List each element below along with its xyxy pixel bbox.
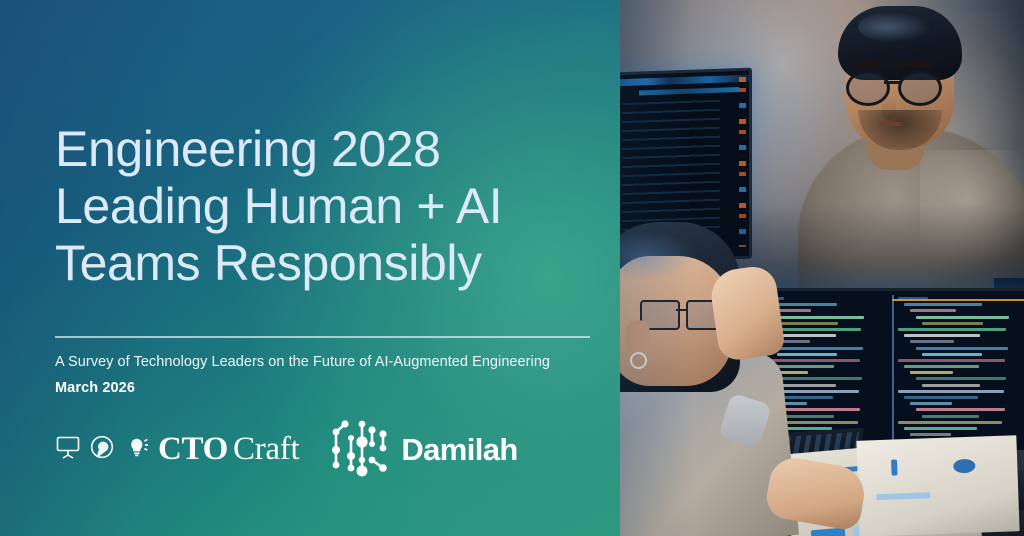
code-line: [898, 328, 1006, 331]
code-line: [922, 384, 981, 387]
code-line: [904, 365, 979, 368]
code-line: [777, 353, 837, 356]
code-highlight-line: [892, 299, 1024, 301]
cto-craft-icon-group: [55, 434, 149, 465]
code-line: [904, 334, 981, 337]
code-line: [777, 384, 836, 387]
code-line: [916, 347, 1008, 350]
code-line: [922, 415, 979, 418]
code-pane-divider: [892, 295, 894, 460]
page-title: Engineering 2028 Leading Human + AI Team…: [55, 121, 600, 292]
title-line-3: Teams Responsibly: [55, 235, 600, 292]
code-line: [898, 359, 1005, 362]
publication-date: March 2026: [55, 378, 550, 399]
subtitle-block: A Survey of Technology Leaders on the Fu…: [55, 352, 550, 399]
man-hair-highlight: [858, 12, 930, 42]
wireframe-paper-front: [856, 435, 1019, 536]
code-line: [904, 396, 978, 399]
presentation-screen-icon: [55, 434, 81, 465]
woman-earring: [630, 352, 647, 369]
head-profile-icon: [89, 434, 115, 465]
monitor-back-topbar: [620, 75, 749, 87]
damilah-wordmark: Damilah: [401, 434, 517, 465]
code-line: [910, 340, 955, 343]
code-line: [916, 316, 1009, 319]
cto-craft-light-text: Craft: [233, 431, 299, 467]
cover-photograph: [620, 0, 1024, 536]
cto-craft-bold-text: CTO: [158, 431, 228, 467]
code-line: [910, 371, 953, 374]
title-line-1: Engineering 2028: [55, 121, 600, 178]
woman-ear: [626, 320, 650, 354]
logo-row: CTOCraft: [55, 416, 518, 483]
man-lens-right: [898, 70, 942, 106]
title-divider: [55, 336, 590, 338]
monitor-back-topbar-secondary: [639, 87, 739, 96]
code-line: [922, 353, 982, 356]
wireframe-shape: [876, 492, 930, 500]
man-glasses: [844, 70, 956, 100]
cto-craft-logo[interactable]: CTOCraft: [55, 433, 299, 466]
code-line: [910, 309, 956, 312]
report-cover-banner: Engineering 2028 Leading Human + AI Team…: [0, 0, 1024, 536]
code-line: [771, 347, 863, 350]
damilah-logo[interactable]: Damilah: [331, 416, 517, 483]
code-line: [771, 377, 862, 380]
wireframe-shape: [953, 459, 975, 474]
code-line: [898, 421, 1003, 424]
man-glasses-bridge: [884, 81, 900, 84]
code-line: [910, 433, 951, 436]
subtitle-text: A Survey of Technology Leaders on the Fu…: [55, 352, 550, 373]
code-line: [771, 316, 864, 319]
wireframe-shape: [891, 459, 898, 475]
code-line: [904, 427, 977, 430]
lightbulb-icon: [123, 434, 149, 465]
network-nodes-icon: [331, 416, 389, 483]
cto-craft-wordmark: CTOCraft: [158, 433, 299, 466]
code-line: [904, 303, 982, 306]
code-line: [916, 408, 1005, 411]
title-line-2: Leading Human + AI: [55, 178, 600, 235]
man-mouth: [878, 122, 902, 126]
code-line: [898, 390, 1004, 393]
code-line: [922, 322, 983, 325]
code-line: [916, 377, 1007, 380]
woman-glasses-bridge: [676, 309, 686, 311]
code-line: [777, 322, 838, 325]
code-line: [910, 402, 952, 405]
